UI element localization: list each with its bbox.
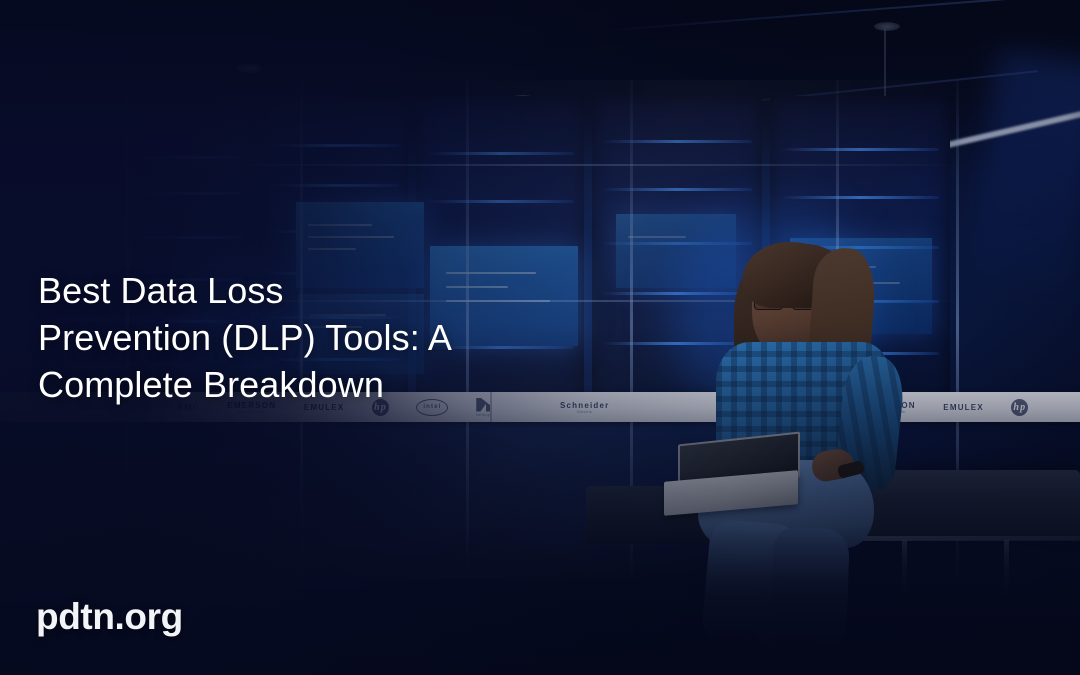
site-logo-wordmark: pdtn.org	[36, 598, 183, 635]
page-title: Best Data Loss Prevention (DLP) Tools: A…	[38, 267, 598, 408]
article-hero-banner: EMC EMERSON Network Power EMULEX hp inte…	[0, 0, 1080, 675]
